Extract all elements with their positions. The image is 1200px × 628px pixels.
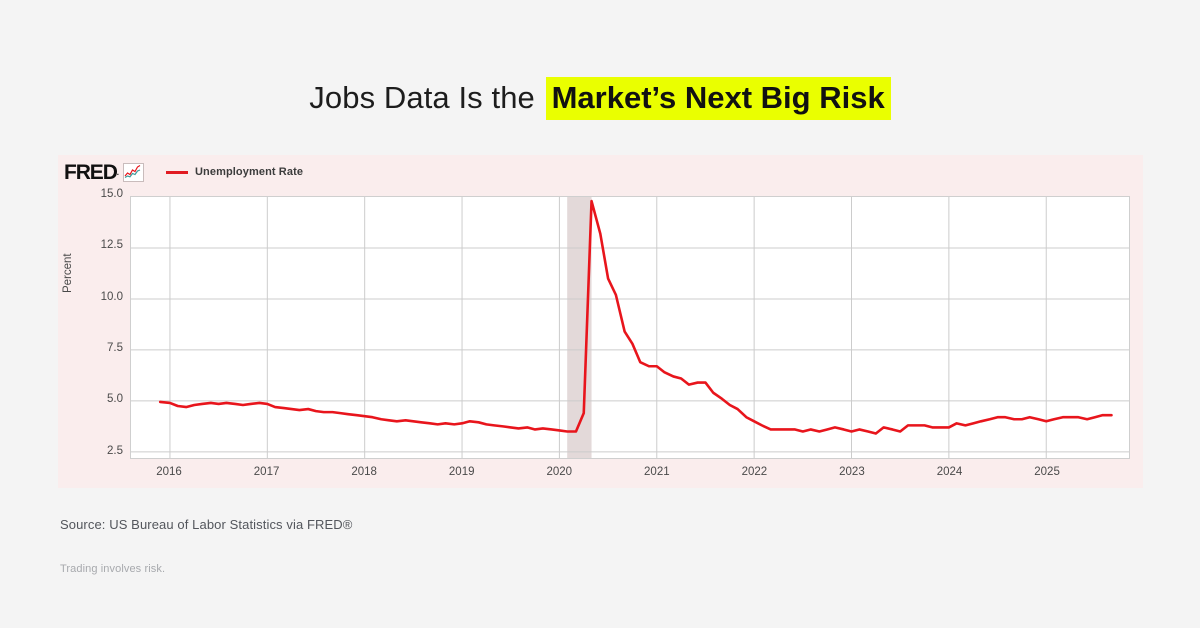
x-axis-tick-label: 2021 <box>627 466 687 478</box>
gridlines <box>131 197 1129 458</box>
plot-wrapper: Percent 15.012.510.07.55.02.5 2016201720… <box>58 155 1143 488</box>
fred-chart-panel: FRED. Unemployment Rate Percent 15.012.5… <box>58 155 1143 488</box>
x-axis-tick-label: 2023 <box>822 466 882 478</box>
x-axis-tick-label: 2016 <box>139 466 199 478</box>
y-axis-tick-label: 10.0 <box>77 291 123 303</box>
x-axis-tick-label: 2018 <box>334 466 394 478</box>
y-axis-tick-label: 5.0 <box>77 393 123 405</box>
x-axis-tick-label: 2020 <box>529 466 589 478</box>
x-axis-tick-label: 2022 <box>724 466 784 478</box>
y-axis-tick-label: 12.5 <box>77 239 123 251</box>
risk-disclaimer: Trading involves risk. <box>60 563 165 575</box>
plot-area <box>130 196 1130 459</box>
x-axis-tick-label: 2019 <box>432 466 492 478</box>
x-axis-tick-label: 2025 <box>1017 466 1077 478</box>
page-title-highlight: Market’s Next Big Risk <box>546 77 891 120</box>
y-axis-tick-label: 15.0 <box>77 188 123 200</box>
source-note: Source: US Bureau of Labor Statistics vi… <box>60 517 352 532</box>
page-title-plain: Jobs Data Is the <box>309 80 543 115</box>
x-axis-tick-label: 2017 <box>237 466 297 478</box>
unemployment-rate-line-chart <box>131 197 1129 458</box>
y-axis-label: Percent <box>62 253 74 293</box>
series-line-unemployment-rate <box>160 201 1111 433</box>
page-title: Jobs Data Is the Market’s Next Big Risk <box>0 78 1200 118</box>
y-axis-tick-label: 2.5 <box>77 445 123 457</box>
x-axis-tick-label: 2024 <box>920 466 980 478</box>
y-axis-tick-label: 7.5 <box>77 342 123 354</box>
